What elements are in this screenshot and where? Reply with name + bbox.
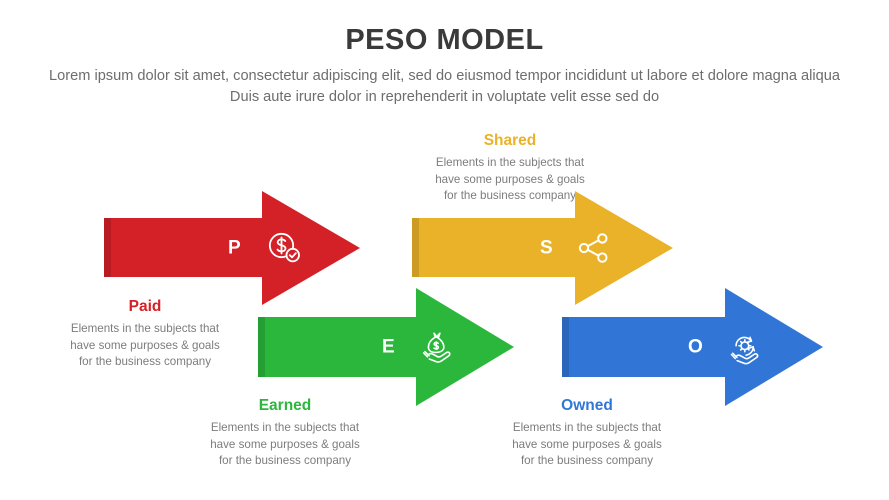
arrow-paid-left-edge (104, 218, 111, 277)
arrow-earned-left-edge (258, 317, 265, 377)
stage-description-earned: Elements in the subjects that have some … (130, 420, 440, 470)
arrow-owned-left-edge (562, 317, 569, 377)
arrow-paid-letter: P (228, 238, 241, 257)
arrow-shared-letter: S (540, 238, 553, 257)
stage-text-owned: Owned Elements in the subjects that have… (432, 396, 742, 470)
hand-gear-icon (724, 327, 764, 367)
arrow-earned[interactable]: E (258, 288, 514, 406)
page-title: PESO MODEL (0, 24, 889, 57)
infographic-canvas: PESO MODEL Lorem ipsum dolor sit amet, c… (0, 0, 889, 500)
hand-money-bag-icon (417, 327, 457, 367)
stage-description-owned: Elements in the subjects that have some … (432, 420, 742, 470)
dollar-check-icon (264, 228, 304, 268)
stage-description-paid: Elements in the subjects that have some … (0, 321, 300, 371)
arrow-earned-letter: E (382, 338, 395, 357)
stage-label-shared: Shared (355, 131, 665, 150)
arrow-owned[interactable]: O (562, 288, 830, 406)
stage-label-earned: Earned (130, 396, 440, 415)
stage-label-owned: Owned (432, 396, 742, 415)
stage-text-paid: Paid Elements in the subjects that have … (0, 297, 300, 371)
page-subtitle: Lorem ipsum dolor sit amet, consectetur … (45, 66, 845, 108)
arrow-owned-letter: O (688, 338, 703, 357)
stage-label-paid: Paid (0, 297, 300, 316)
arrow-shared-left-edge (412, 218, 419, 277)
stage-text-earned: Earned Elements in the subjects that hav… (130, 396, 440, 470)
share-nodes-icon (574, 228, 614, 268)
